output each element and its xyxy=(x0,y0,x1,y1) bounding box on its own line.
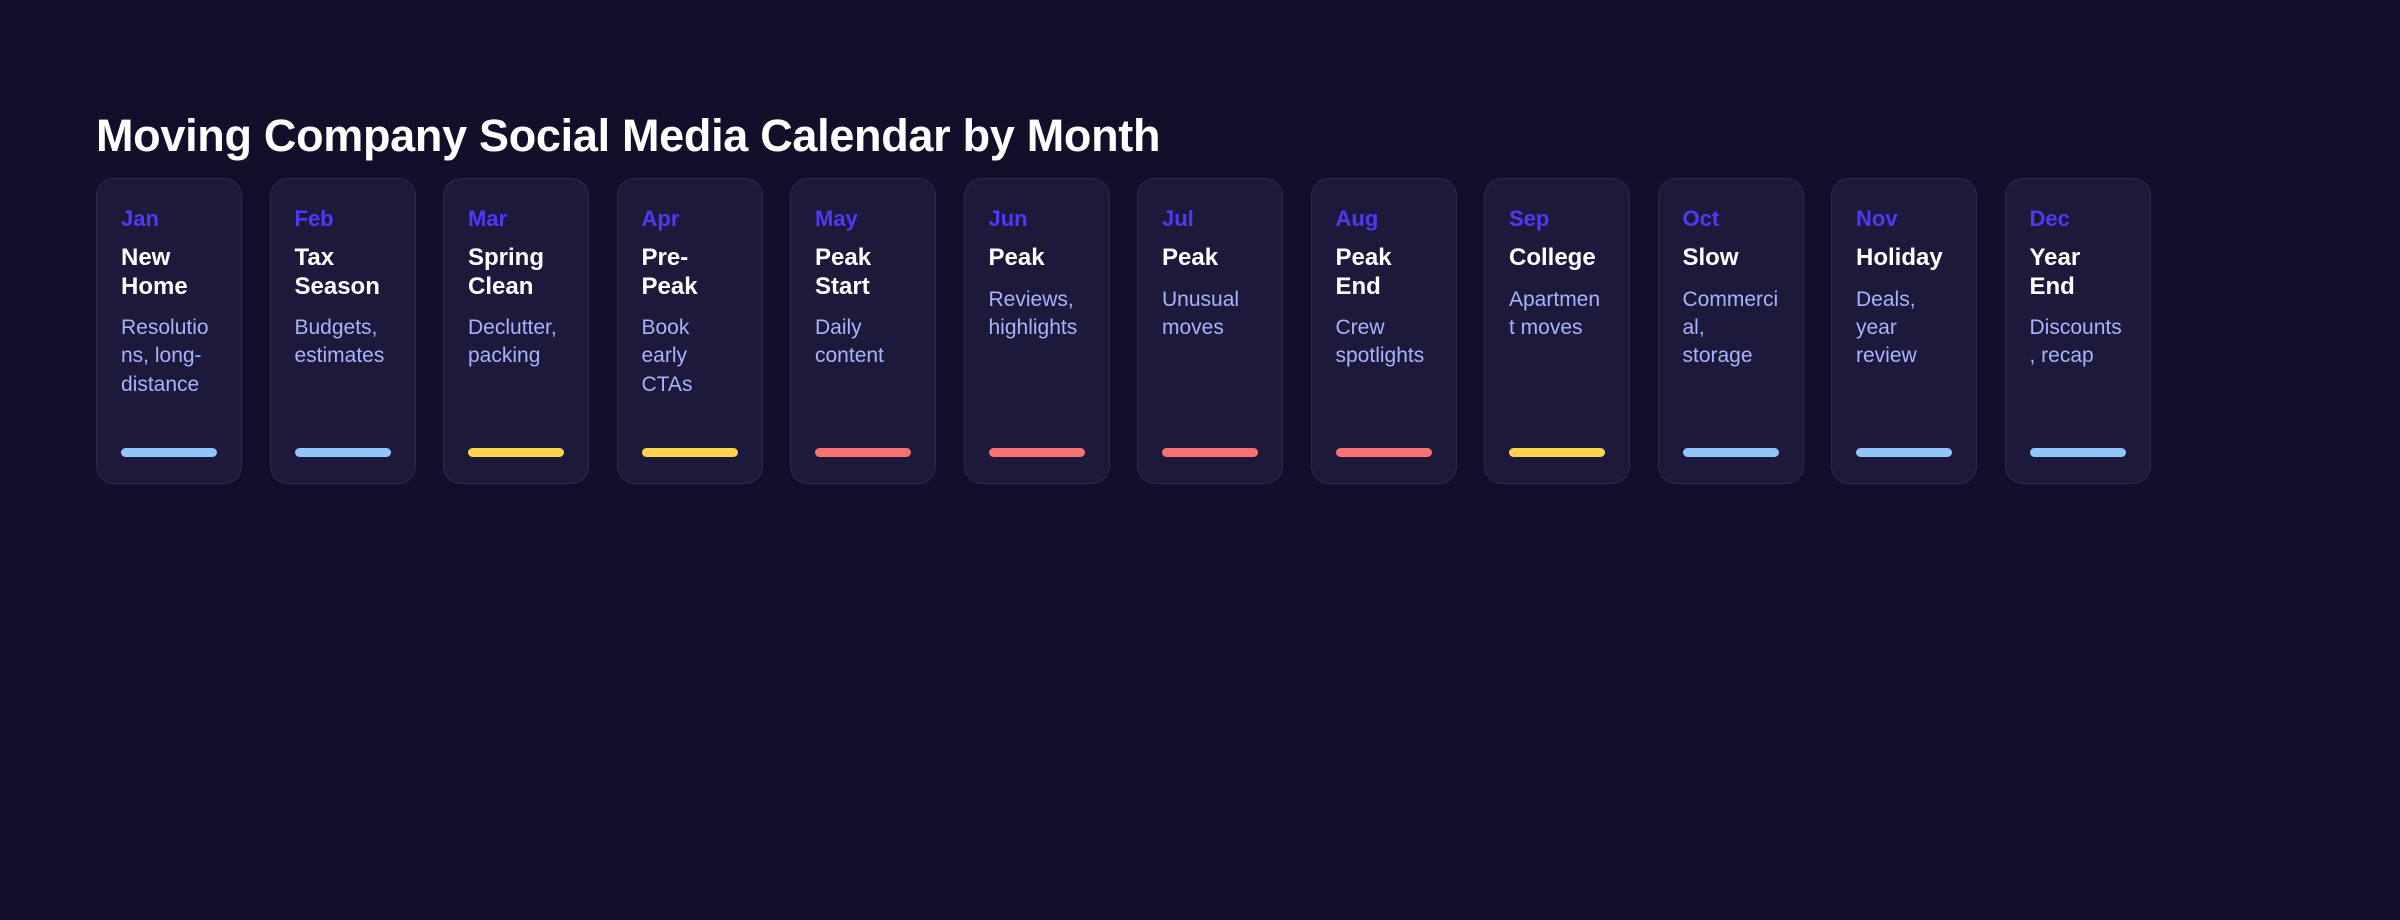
intensity-bar-slot xyxy=(1509,448,1605,483)
intensity-bar xyxy=(1509,448,1605,457)
month-label: Nov xyxy=(1856,207,1952,231)
month-note: Discounts, recap xyxy=(2030,314,2126,371)
month-card[interactable]: JanNew HomeResolutions, long-distance xyxy=(96,178,242,484)
intensity-bar xyxy=(642,448,738,457)
page-title: Moving Company Social Media Calendar by … xyxy=(96,112,1160,159)
month-card[interactable]: MarSpring CleanDeclutter, packing xyxy=(443,178,589,484)
month-theme: Spring Clean xyxy=(468,244,564,301)
month-card[interactable]: JulPeakUnusual moves xyxy=(1137,178,1283,484)
month-note: Reviews, highlights xyxy=(989,286,1085,343)
intensity-bar-slot xyxy=(1683,448,1779,483)
month-card[interactable]: NovHolidayDeals, year review xyxy=(1831,178,1977,484)
month-note: Apartment moves xyxy=(1509,286,1605,343)
intensity-bar-slot xyxy=(989,448,1085,483)
intensity-bar-slot xyxy=(1856,448,1952,483)
intensity-bar xyxy=(1856,448,1952,457)
intensity-bar-slot xyxy=(295,448,391,483)
month-note: Commercial, storage xyxy=(1683,286,1779,371)
intensity-bar-slot xyxy=(1336,448,1432,483)
month-label: Aug xyxy=(1336,207,1432,231)
intensity-bar-slot xyxy=(2030,448,2126,483)
intensity-bar xyxy=(1162,448,1258,457)
month-label: Jan xyxy=(121,207,217,231)
month-label: May xyxy=(815,207,911,231)
month-note: Unusual moves xyxy=(1162,286,1258,343)
month-note: Daily content xyxy=(815,314,911,371)
intensity-bar-slot xyxy=(642,448,738,483)
month-label: Apr xyxy=(642,207,738,231)
month-card[interactable]: FebTax SeasonBudgets, estimates xyxy=(270,178,416,484)
intensity-bar-slot xyxy=(121,448,217,483)
month-note: Deals, year review xyxy=(1856,286,1952,371)
month-theme: Holiday xyxy=(1856,244,1952,272)
month-card[interactable]: SepCollegeApartment moves xyxy=(1484,178,1630,484)
month-card[interactable]: MayPeak StartDaily content xyxy=(790,178,936,484)
month-note: Crew spotlights xyxy=(1336,314,1432,371)
intensity-bar xyxy=(1336,448,1432,457)
month-theme: Pre-Peak xyxy=(642,244,738,301)
month-theme: Year End xyxy=(2030,244,2126,301)
month-theme: Tax Season xyxy=(295,244,391,301)
intensity-bar-slot xyxy=(468,448,564,483)
calendar-page: Moving Company Social Media Calendar by … xyxy=(0,0,2400,920)
intensity-bar-slot xyxy=(1162,448,1258,483)
month-theme: New Home xyxy=(121,244,217,301)
month-note: Book early CTAs xyxy=(642,314,738,399)
month-theme: Peak End xyxy=(1336,244,1432,301)
month-label: Dec xyxy=(2030,207,2126,231)
month-note: Budgets, estimates xyxy=(295,314,391,371)
month-label: Sep xyxy=(1509,207,1605,231)
intensity-bar xyxy=(295,448,391,457)
month-card-row: JanNew HomeResolutions, long-distanceFeb… xyxy=(96,178,2151,484)
month-label: Oct xyxy=(1683,207,1779,231)
month-card[interactable]: AprPre-PeakBook early CTAs xyxy=(617,178,763,484)
intensity-bar xyxy=(989,448,1085,457)
month-label: Jun xyxy=(989,207,1085,231)
month-theme: Peak xyxy=(989,244,1085,272)
month-label: Mar xyxy=(468,207,564,231)
month-card[interactable]: DecYear EndDiscounts, recap xyxy=(2005,178,2151,484)
month-card[interactable]: OctSlowCommercial, storage xyxy=(1658,178,1804,484)
month-note: Resolutions, long-distance xyxy=(121,314,217,399)
month-theme: Peak xyxy=(1162,244,1258,272)
intensity-bar xyxy=(2030,448,2126,457)
month-theme: Peak Start xyxy=(815,244,911,301)
intensity-bar xyxy=(468,448,564,457)
intensity-bar xyxy=(121,448,217,457)
month-card[interactable]: AugPeak EndCrew spotlights xyxy=(1311,178,1457,484)
intensity-bar xyxy=(815,448,911,457)
month-note: Declutter, packing xyxy=(468,314,564,371)
month-theme: Slow xyxy=(1683,244,1779,272)
month-theme: College xyxy=(1509,244,1605,272)
intensity-bar-slot xyxy=(815,448,911,483)
month-label: Jul xyxy=(1162,207,1258,231)
month-label: Feb xyxy=(295,207,391,231)
month-card[interactable]: JunPeakReviews, highlights xyxy=(964,178,1110,484)
intensity-bar xyxy=(1683,448,1779,457)
